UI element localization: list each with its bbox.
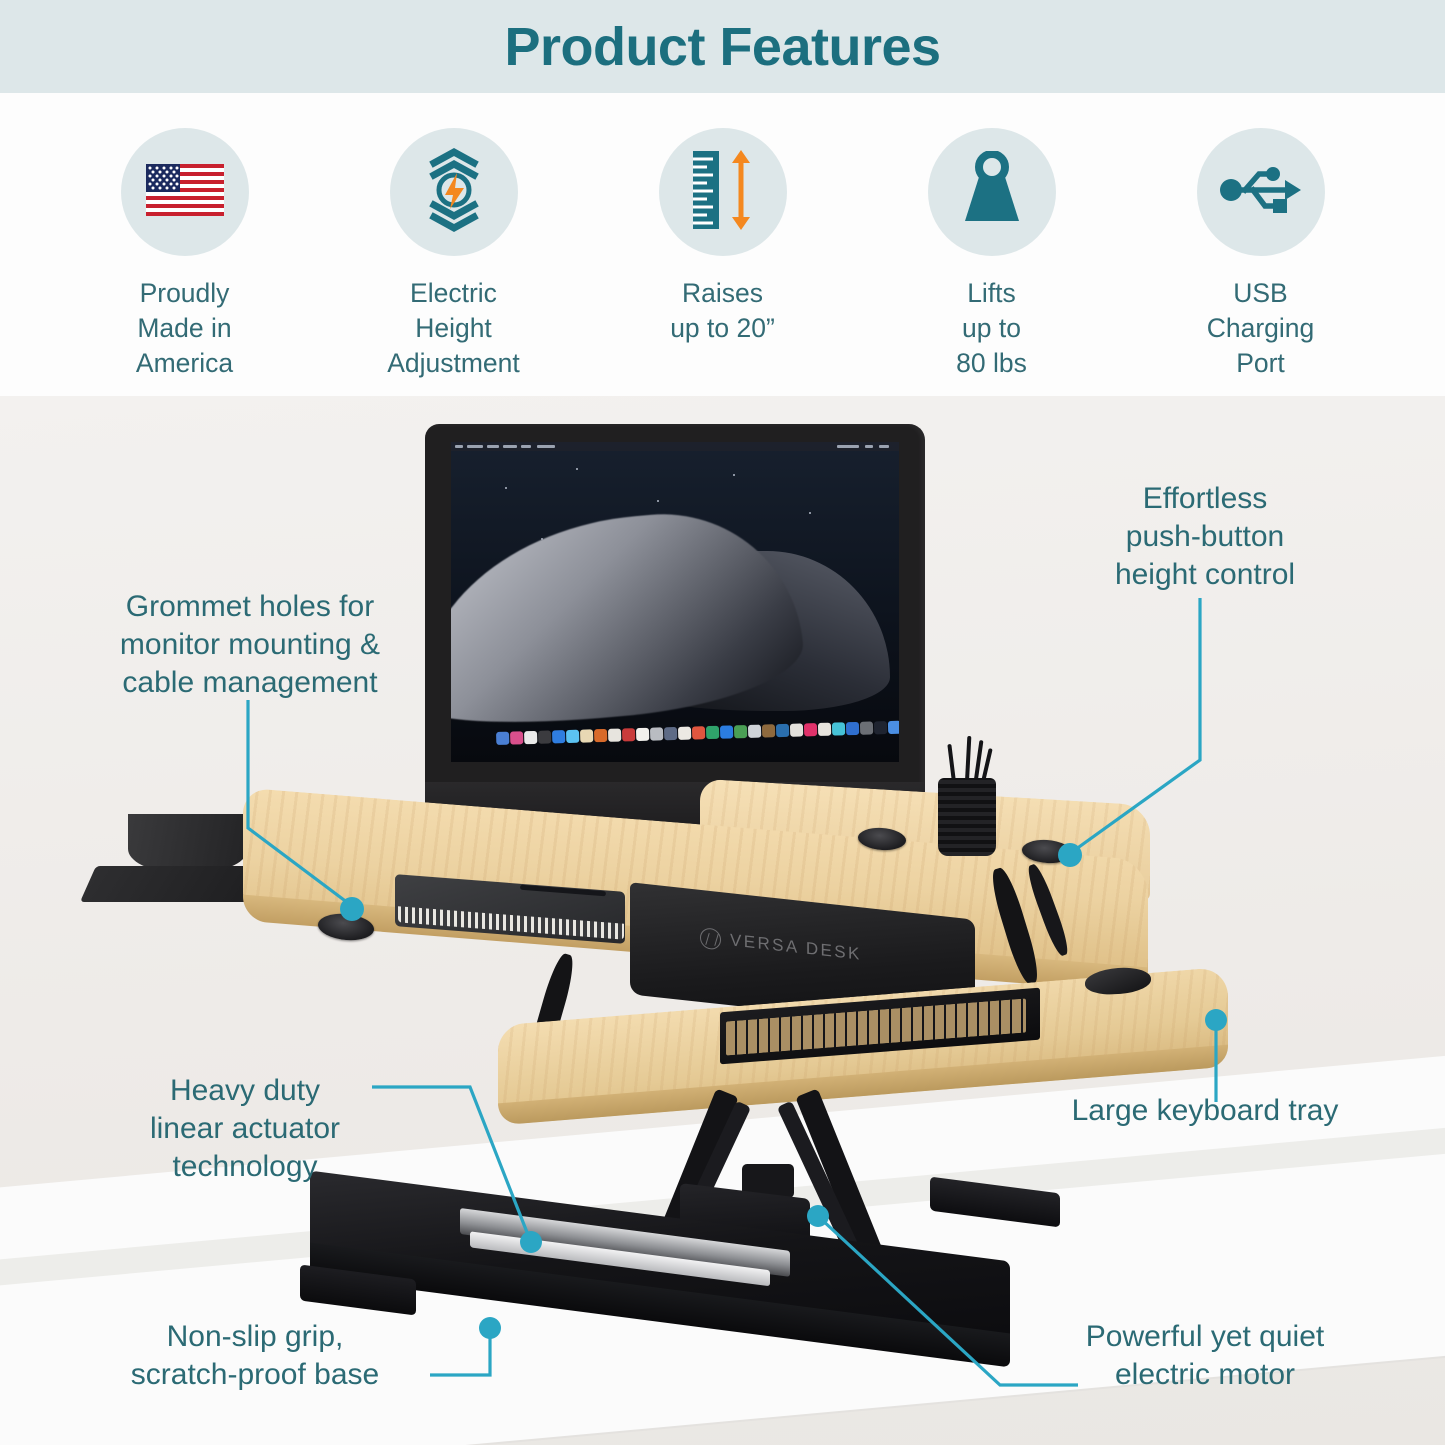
callout-keyboard-tray: Large keyboard tray	[1035, 1092, 1375, 1130]
monitor-screen	[451, 442, 899, 762]
feature-item-made-in-america: Proudly Made in America	[50, 128, 319, 381]
usa-flag-icon	[146, 164, 224, 221]
feature-item-electric-height: Electric Height Adjustment	[319, 128, 588, 381]
callout-linear-actuator: Heavy duty linear actuator technology	[105, 1072, 385, 1185]
monitor-stand-neck	[128, 814, 248, 872]
feature-icon-circle	[1197, 128, 1325, 256]
feature-item-raises: Raises up to 20”	[588, 128, 857, 346]
callout-non-slip-base: Non-slip grip, scratch-proof base	[85, 1318, 425, 1394]
imac-monitor	[425, 424, 925, 844]
feature-item-lifts: Lifts up to 80 lbs	[857, 128, 1126, 381]
page-header: Product Features	[0, 0, 1445, 93]
electric-height-icon	[418, 147, 490, 238]
feature-icon-circle	[121, 128, 249, 256]
weight-icon	[953, 151, 1031, 234]
versa-desk-logo-mark	[700, 927, 721, 950]
feature-icon-circle	[659, 128, 787, 256]
feature-icon-circle	[928, 128, 1056, 256]
feature-label: USB Charging Port	[1207, 276, 1315, 381]
callout-push-button: Effortless push-button height control	[1050, 480, 1360, 593]
feature-label: Lifts up to 80 lbs	[956, 276, 1027, 381]
feature-label: Proudly Made in America	[136, 276, 233, 381]
callout-electric-motor: Powerful yet quiet electric motor	[1045, 1318, 1365, 1394]
callout-grommet-holes: Grommet holes for monitor mounting & cab…	[75, 588, 425, 701]
pen-cup	[938, 778, 996, 856]
product-features-infographic: Product Features	[0, 0, 1445, 1445]
ruler-arrow-icon	[683, 147, 763, 238]
feature-icon-circle	[390, 128, 518, 256]
feature-label: Electric Height Adjustment	[387, 276, 520, 381]
page-title: Product Features	[504, 20, 940, 74]
feature-item-usb: USB Charging Port	[1126, 128, 1395, 381]
feature-icon-row: Proudly Made in America	[0, 128, 1445, 396]
feature-label: Raises up to 20”	[670, 276, 775, 346]
usb-icon	[1219, 160, 1303, 225]
macos-menubar	[451, 442, 899, 451]
